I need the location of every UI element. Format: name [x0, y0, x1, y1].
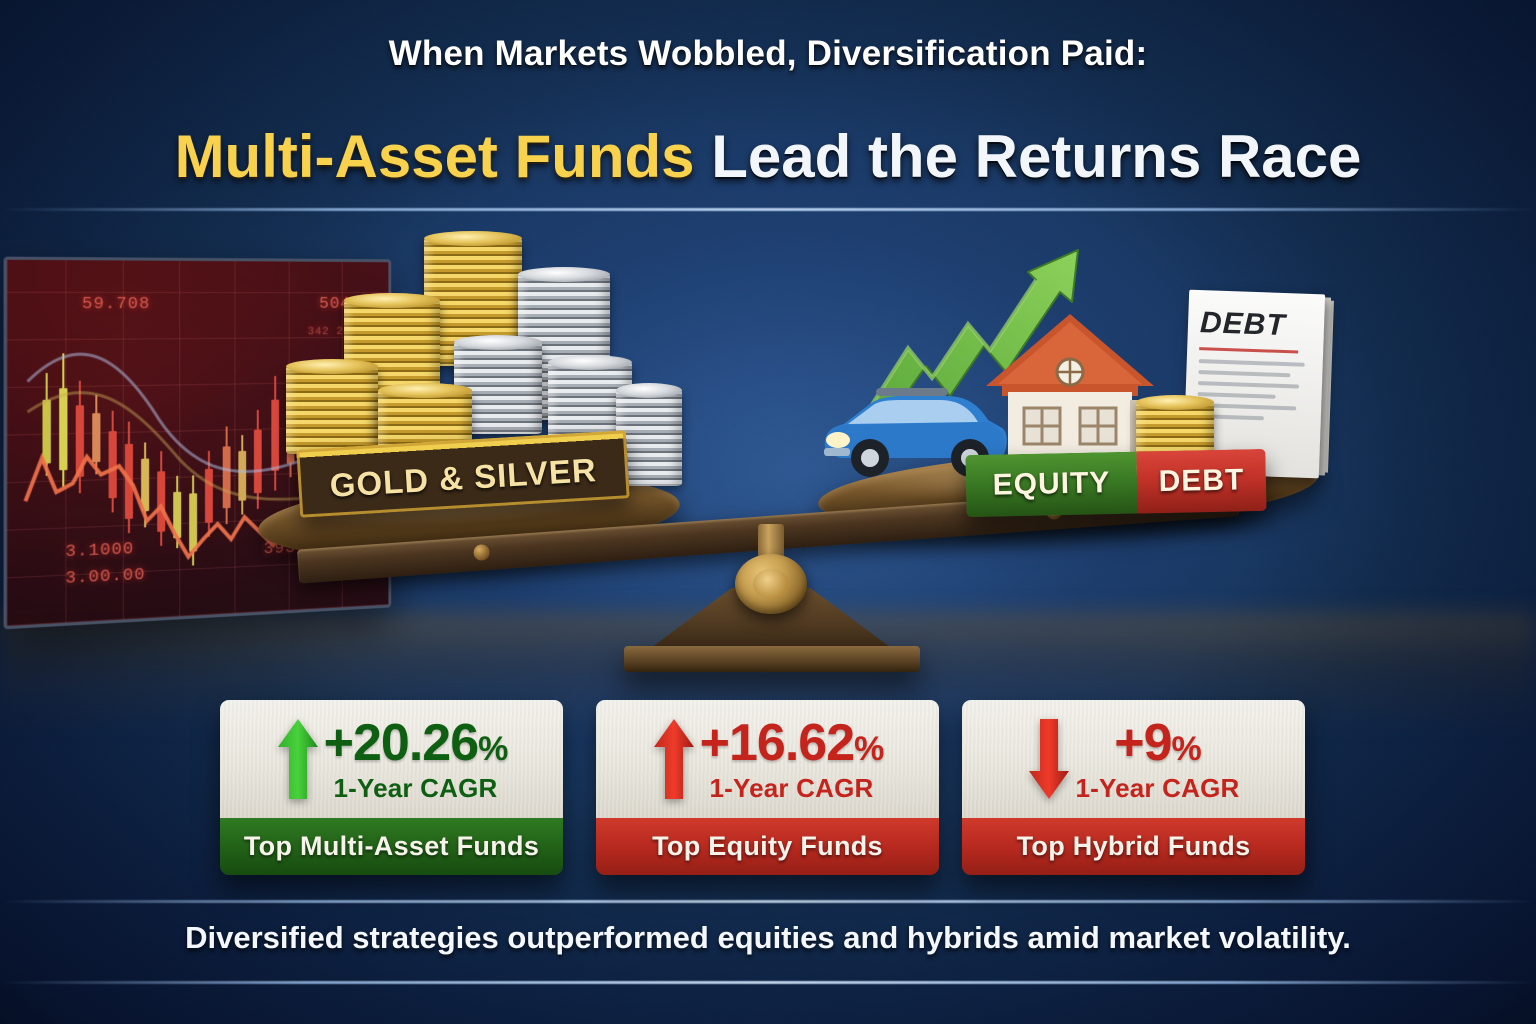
divider-bottom [0, 981, 1536, 984]
arrow-down-icon [1027, 717, 1071, 801]
debt-document-rule [1199, 347, 1298, 353]
page-title: Multi-Asset Funds Lead the Returns Race [0, 126, 1536, 187]
headline-highlight: Multi-Asset Funds [175, 123, 695, 190]
stat-metric-label: 1-Year CAGR [709, 775, 873, 801]
debt-document-line [1198, 381, 1299, 389]
divider-middle [0, 900, 1536, 903]
infographic-canvas: 59.708 504.216 342 251 239 3.1000 3.00.0… [0, 0, 1536, 1024]
stat-value: +16.62% [700, 717, 884, 769]
stat-card-multi-asset[interactable]: +20.26% 1-Year CAGR Top Multi-Asset Fund… [220, 700, 563, 875]
stat-metric-label: 1-Year CAGR [1075, 775, 1239, 801]
stat-card-body: +9% 1-Year CAGR [962, 700, 1305, 818]
stat-card-equity[interactable]: +16.62% 1-Year CAGR Top Equity Funds [596, 700, 939, 875]
stat-card-title: Top Equity Funds [652, 831, 883, 862]
footer-caption: Diversified strategies outperformed equi… [0, 920, 1536, 956]
stat-card-body: +16.62% 1-Year CAGR [596, 700, 939, 818]
arrow-up-icon [276, 717, 320, 801]
stat-card-title: Top Multi-Asset Funds [244, 831, 539, 862]
stat-metric-label: 1-Year CAGR [333, 775, 497, 801]
stat-values: +20.26% 1-Year CAGR [324, 717, 508, 801]
equity-block: EQUITY [965, 452, 1137, 518]
equity-label: EQUITY [992, 466, 1110, 502]
stat-card-body: +20.26% 1-Year CAGR [220, 700, 563, 818]
headline-rest: Lead the Returns Race [695, 123, 1362, 190]
stat-card-footer: Top Equity Funds [596, 818, 939, 875]
kicker-text: When Markets Wobbled, Diversification Pa… [0, 34, 1536, 74]
stat-card-hybrid[interactable]: +9% 1-Year CAGR Top Hybrid Funds [962, 700, 1305, 875]
header: When Markets Wobbled, Diversification Pa… [0, 34, 1536, 74]
stat-card-row: +20.26% 1-Year CAGR Top Multi-Asset Fund… [0, 700, 1536, 875]
equity-debt-block: EQUITY DEBT [965, 449, 1266, 517]
scale-pivot-knob [735, 554, 807, 614]
stat-values: +16.62% 1-Year CAGR [700, 717, 884, 801]
stat-card-footer: Top Hybrid Funds [962, 818, 1305, 875]
debt-block: DEBT [1136, 449, 1266, 514]
gold-silver-label: GOLD & SILVER [329, 451, 598, 505]
debt-label: DEBT [1158, 463, 1244, 499]
stat-value: +20.26% [324, 717, 508, 769]
stat-values: +9% 1-Year CAGR [1075, 717, 1239, 801]
debt-document-line [1198, 370, 1290, 377]
stat-card-footer: Top Multi-Asset Funds [220, 818, 563, 875]
debt-document-line [1199, 359, 1305, 367]
scale-base-plinth [624, 646, 920, 672]
arrow-up-icon [652, 717, 696, 801]
divider-top [0, 208, 1536, 211]
debt-document-title: DEBT [1199, 306, 1312, 344]
stat-card-title: Top Hybrid Funds [1017, 831, 1251, 862]
stat-value: +9% [1114, 717, 1201, 769]
